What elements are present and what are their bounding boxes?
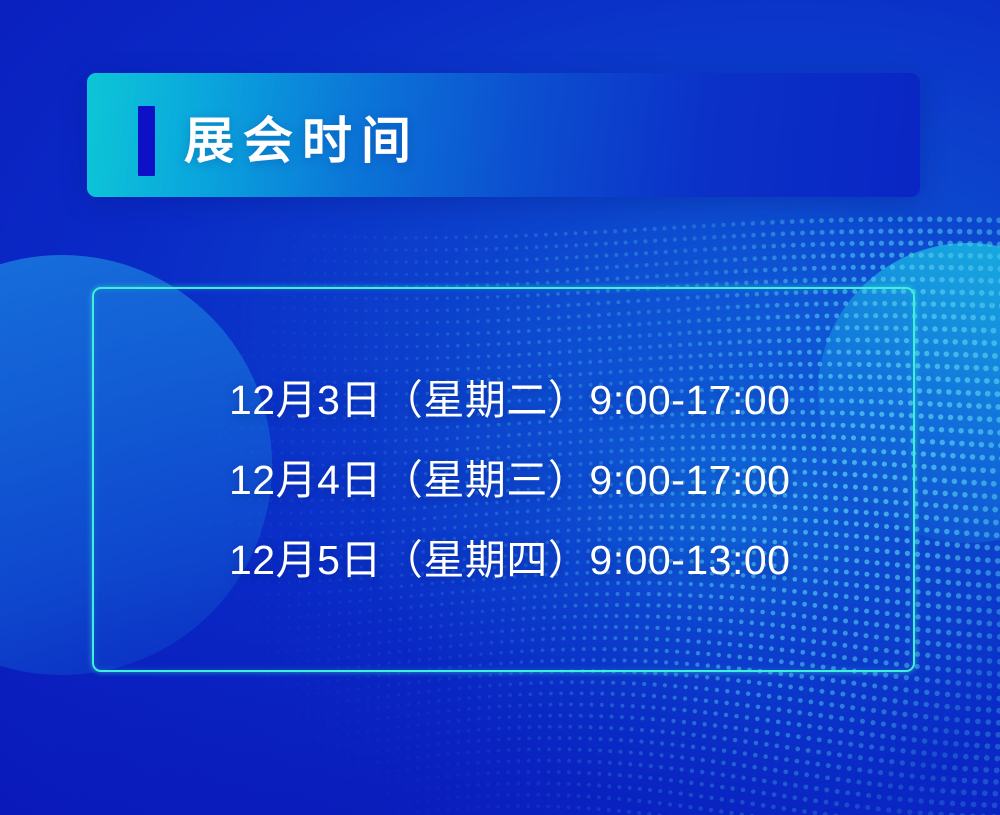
page-title: 展会时间: [184, 101, 420, 181]
accent-bar-icon: [138, 106, 155, 176]
list-item: 12月4日（星期三）9:00-17:00: [229, 440, 913, 520]
schedule-panel: 12月3日（星期二）9:00-17:00 12月4日（星期三）9:00-17:0…: [92, 287, 915, 672]
section-header-banner: 展会时间: [87, 73, 920, 197]
poster-canvas: 展会时间 12月3日（星期二）9:00-17:00 12月4日（星期三）9:00…: [0, 0, 1000, 815]
list-item: 12月5日（星期四）9:00-13:00: [229, 520, 913, 600]
list-item: 12月3日（星期二）9:00-17:00: [229, 360, 913, 440]
schedule-list: 12月3日（星期二）9:00-17:00 12月4日（星期三）9:00-17:0…: [94, 289, 913, 670]
